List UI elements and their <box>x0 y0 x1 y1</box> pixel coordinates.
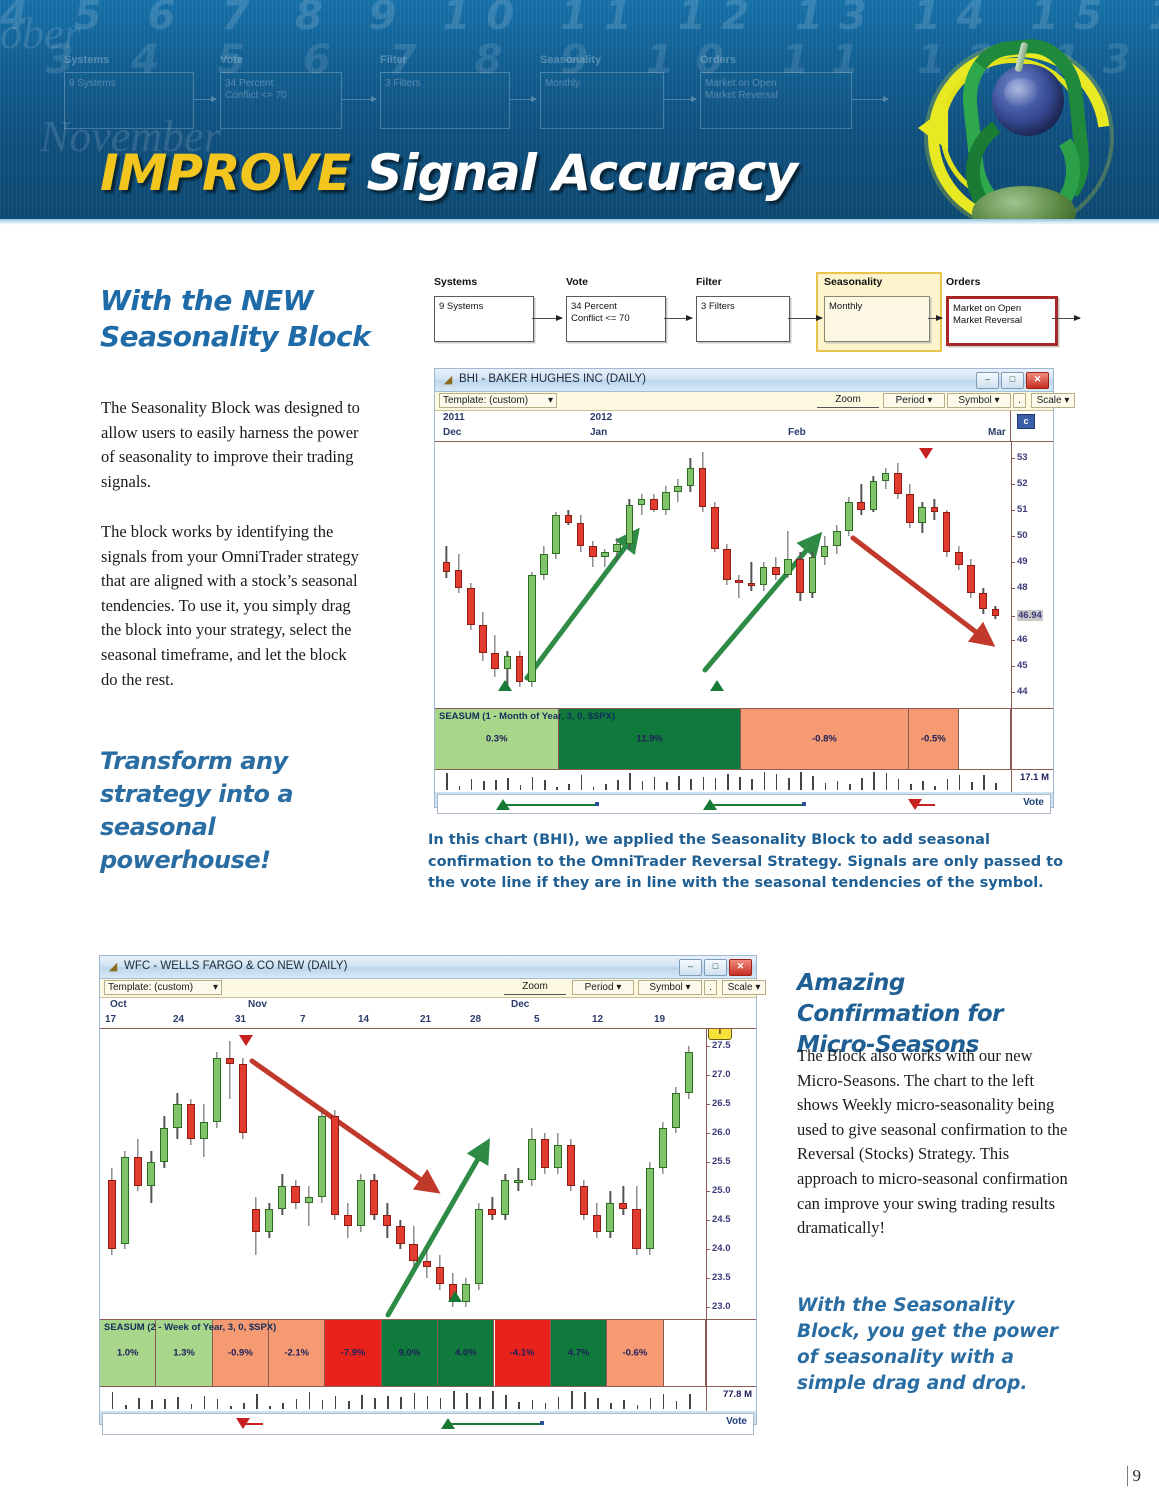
candle-wick <box>739 575 740 598</box>
volume-bar <box>269 1406 271 1409</box>
candle-body <box>409 1244 417 1261</box>
candle-body <box>443 562 451 572</box>
candle-body <box>554 1145 562 1168</box>
candle-body <box>540 554 548 575</box>
candlestick <box>423 1249 431 1278</box>
flow-label-systems: Systems <box>434 276 477 288</box>
candle-body <box>173 1104 181 1127</box>
candle-wick <box>308 1186 309 1227</box>
candle-body <box>213 1058 221 1122</box>
flow-node-systems[interactable]: 9 Systems <box>434 296 534 342</box>
candlestick <box>187 1099 195 1145</box>
volume-bar <box>623 1400 625 1409</box>
vote-end-dot <box>802 802 806 806</box>
bhi-volume-panel: 17.1 M <box>435 769 1053 792</box>
volume-bar <box>374 1398 376 1409</box>
candlestick <box>121 1151 129 1250</box>
maximize-button[interactable]: □ <box>1001 372 1024 389</box>
candle-body <box>821 546 829 556</box>
volume-bar <box>453 1391 455 1409</box>
candle-body <box>906 494 914 523</box>
volume-bar <box>886 773 888 790</box>
candle-body <box>552 515 560 554</box>
ghost-flow-label-systems: Systems <box>64 54 109 66</box>
candle-body <box>589 546 597 556</box>
wfc-volume-value: 77.8 M <box>723 1389 752 1400</box>
volume-bar <box>983 775 985 790</box>
candle-body <box>187 1104 195 1139</box>
candlestick <box>200 1104 208 1156</box>
page-headline: IMPROVE Signal Accuracy <box>100 144 797 202</box>
scale-dropdown[interactable]: Scale ▾ <box>1031 393 1075 408</box>
candlestick <box>870 476 878 513</box>
volume-bar <box>479 1397 481 1409</box>
page-number: 9 <box>1127 1466 1142 1486</box>
wfc-price-plot[interactable]: T 27.527.026.526.025.525.024.524.023.523… <box>100 1029 756 1319</box>
candlestick <box>252 1197 260 1255</box>
bhi-price-scale[interactable]: 53525150494846.94464544 <box>1011 442 1053 708</box>
candle-body <box>479 625 487 654</box>
volume-bar <box>505 1395 507 1409</box>
candlestick <box>462 1278 470 1307</box>
candlestick <box>370 1174 378 1220</box>
candlestick <box>821 536 829 565</box>
candle-body <box>931 507 939 512</box>
scale-dropdown-label: Scale <box>1037 395 1062 406</box>
price-tick: 52 <box>1017 478 1028 489</box>
price-tick: 24.0 <box>712 1243 731 1254</box>
seasonality-band[interactable]: -7.9% <box>325 1320 381 1386</box>
candlestick <box>992 606 1000 619</box>
volume-bar <box>138 1398 140 1409</box>
flow-node-systems-text: 9 Systems <box>439 301 531 313</box>
candle-body <box>857 502 865 510</box>
candle-body <box>305 1197 313 1203</box>
volume-bar <box>788 778 790 790</box>
candle-body <box>723 549 731 580</box>
wfc-title-bar[interactable]: ◢ WFC - WELLS FARGO & CO NEW (DAILY) – □… <box>100 956 756 979</box>
bhi-chart-window[interactable]: ◢ BHI - BAKER HUGHES INC (DAILY) – □ ✕ T… <box>434 368 1054 808</box>
wfc-day-28: 28 <box>470 1014 481 1025</box>
candle-body <box>772 567 780 575</box>
candlestick <box>967 559 975 598</box>
left-column-paragraph-2: The block works by identifying the signa… <box>101 520 363 692</box>
banner-bottom-rule <box>0 219 1159 225</box>
candlestick <box>541 1133 549 1174</box>
volume-bar <box>910 784 912 790</box>
seasonality-band[interactable]: -2.1% <box>269 1320 325 1386</box>
price-tick: 50 <box>1017 530 1028 541</box>
wfc-day-5: 5 <box>534 1014 540 1025</box>
seasonality-axis-line <box>1011 709 1012 769</box>
bhi-window-title: BHI - BAKER HUGHES INC (DAILY) <box>459 373 646 385</box>
candlestick <box>475 1203 483 1290</box>
bhi-date-axis: 2011 2012 Dec Jan Feb Mar c <box>435 411 1053 442</box>
minimize-button[interactable]: – <box>679 959 702 976</box>
candle-body <box>318 1116 326 1197</box>
candle-body <box>699 468 707 507</box>
volume-bar <box>995 783 997 790</box>
wfc-price-scale[interactable]: T 27.527.026.526.025.525.024.524.023.523… <box>706 1029 756 1319</box>
bhi-seasum-label: SEASUM (1 - Month of Year, 3, 0, $SPX) <box>439 711 615 722</box>
candlestick <box>383 1203 391 1238</box>
flow-node-vote[interactable]: 34 Percent Conflict <= 70 <box>566 296 666 342</box>
seasonality-band[interactable]: -0.5% <box>909 709 959 769</box>
flow-label-vote: Vote <box>566 276 588 288</box>
left-column-heading: With the NEW Seasonality Block <box>100 283 385 355</box>
flow-label-orders: Orders <box>946 276 980 288</box>
volume-bar <box>690 779 692 790</box>
volume-bar <box>459 786 461 790</box>
symbol-dropdown[interactable]: Symbol ▾ <box>947 393 1011 408</box>
seasonality-band[interactable]: 9.0% <box>382 1320 438 1386</box>
ghost-flow-text-filter: 3 Filters <box>385 78 421 90</box>
wfc-month-dec: Dec <box>511 999 529 1010</box>
volume-bar <box>427 1396 429 1409</box>
candlestick <box>443 546 451 577</box>
vote-segment <box>917 804 935 806</box>
wfc-month-oct: Oct <box>110 999 127 1010</box>
period-dropdown[interactable]: Period ▾ <box>883 393 945 408</box>
bhi-scale-badge[interactable]: c <box>1017 414 1035 429</box>
candlestick <box>735 575 743 598</box>
symbol-dropdown[interactable]: Symbol ▾ <box>638 980 702 995</box>
vote-segment <box>712 804 804 806</box>
candle-body <box>735 580 743 583</box>
wfc-chart-window[interactable]: ◢ WFC - WELLS FARGO & CO NEW (DAILY) – □… <box>99 955 757 1425</box>
bhi-vote-line[interactable]: Vote <box>437 794 1051 814</box>
flow-node-seasonality[interactable]: Monthly <box>824 296 930 342</box>
volume-bar <box>177 1397 179 1409</box>
candlestick <box>699 452 707 512</box>
bhi-toolbar[interactable]: Template: (custom) ▾ Zoom Period ▾ Symbo… <box>435 392 1053 411</box>
volume-bar <box>556 787 558 790</box>
seasonality-band[interactable]: 4.7% <box>551 1320 607 1386</box>
candlestick <box>305 1186 313 1227</box>
seasonality-band-value: 4.7% <box>551 1348 606 1359</box>
volume-bar <box>873 772 875 790</box>
price-tick: 24.5 <box>712 1214 731 1225</box>
seasonality-band[interactable]: 4.0% <box>438 1320 494 1386</box>
price-tick: 45 <box>1017 660 1028 671</box>
candlestick <box>147 1151 155 1203</box>
candlestick <box>516 651 524 688</box>
candlestick <box>552 512 560 559</box>
wfc-toolbar[interactable]: Template: (custom) ▾ Zoom Period ▾ Symbo… <box>100 979 756 998</box>
candle-body <box>514 1180 522 1183</box>
wfc-volume-panel: 77.8 M <box>100 1386 756 1411</box>
candle-body <box>331 1116 339 1215</box>
volume-bar <box>495 780 497 790</box>
candle-body <box>121 1157 129 1244</box>
volume-bar <box>617 780 619 790</box>
maximize-button[interactable]: □ <box>704 959 727 976</box>
candle-body <box>662 492 670 510</box>
close-button[interactable]: ✕ <box>729 959 752 976</box>
volume-bar <box>849 784 851 790</box>
dot-button[interactable]: . <box>704 980 717 995</box>
candlestick <box>528 572 536 687</box>
close-button[interactable]: ✕ <box>1026 372 1049 389</box>
candlestick <box>906 484 914 528</box>
volume-bar <box>466 1393 468 1409</box>
price-tick: 48 <box>1017 582 1028 593</box>
volume-bar <box>204 1396 206 1409</box>
candle-body <box>357 1180 365 1226</box>
volume-axis-line <box>1011 770 1012 792</box>
globe-s-curve-logo-icon <box>920 18 1100 225</box>
seasonality-band-value: -0.9% <box>213 1348 268 1359</box>
flow-node-filter[interactable]: 3 Filters <box>696 296 790 342</box>
bhi-year-2012: 2012 <box>590 412 612 423</box>
volume-bar <box>532 777 534 790</box>
volume-bar <box>898 779 900 790</box>
candlestick <box>632 1186 640 1256</box>
chart-window-icon: ◢ <box>441 373 455 387</box>
volume-bar <box>837 781 839 790</box>
template-dropdown-label: Template: (custom) <box>108 982 193 993</box>
volume-bar <box>800 772 802 790</box>
candle-body <box>565 515 573 523</box>
ghost-flow-connector-3 <box>510 99 536 100</box>
candle-body <box>711 507 719 549</box>
buy-signal-marker[interactable] <box>498 680 512 691</box>
flow-node-orders-text: Market on Open Market Reversal <box>953 303 1053 326</box>
flow-connector-3 <box>788 318 822 319</box>
candle-body <box>613 544 621 552</box>
price-tick: 53 <box>1017 452 1028 463</box>
candle-body <box>796 559 804 593</box>
bhi-month-jan: Jan <box>590 427 607 438</box>
wfc-seasonality-panel[interactable]: SEASUM (2 - Week of Year, 3, 0, $SPX) 1.… <box>100 1319 756 1386</box>
minimize-button[interactable]: – <box>976 372 999 389</box>
candlestick <box>580 1180 588 1221</box>
candlestick <box>601 549 609 567</box>
candlestick <box>650 494 658 512</box>
vote-segment <box>450 1423 542 1425</box>
candlestick <box>760 562 768 591</box>
candlestick <box>291 1180 299 1209</box>
seasonality-band-value: 1.3% <box>156 1348 211 1359</box>
wfc-day-31: 31 <box>235 1014 246 1025</box>
wfc-day-17: 17 <box>105 1014 116 1025</box>
volume-bar <box>764 772 766 790</box>
candle-wick <box>861 484 862 515</box>
volume-bar <box>676 1401 678 1409</box>
zoom-button[interactable]: Zoom <box>504 980 566 995</box>
template-dropdown[interactable]: Template: (custom) ▾ <box>439 393 557 408</box>
buy-signal-marker[interactable] <box>710 680 724 691</box>
left-column-paragraph-1: The Seasonality Block was designed to al… <box>101 396 363 494</box>
candlestick <box>278 1174 286 1215</box>
seasonality-band-value: -0.6% <box>607 1348 662 1359</box>
wfc-window-buttons[interactable]: – □ ✕ <box>679 959 752 976</box>
candlestick <box>593 1203 601 1238</box>
price-tick: 26.0 <box>712 1127 731 1138</box>
volume-bar <box>689 1394 691 1409</box>
candlestick <box>226 1041 234 1099</box>
candlestick <box>687 458 695 492</box>
bhi-year-2011: 2011 <box>443 412 465 423</box>
candle-body <box>646 1168 654 1249</box>
volume-axis-line <box>706 1387 707 1411</box>
banner-ghost-flow-diagram: Systems Vote Filter Seasonality Orders 9… <box>62 42 892 132</box>
volume-bar <box>112 1392 114 1409</box>
candlestick <box>931 499 939 520</box>
page-header-banner: 4 5 6 7 8 9 10 11 12 13 14 15 16 17 18 1… <box>0 0 1159 225</box>
candle-body <box>467 588 475 625</box>
candle-body <box>870 481 878 510</box>
volume-bar <box>164 1399 166 1409</box>
price-tick: 27.5 <box>712 1040 731 1051</box>
candle-body <box>632 1209 640 1250</box>
volume-bar <box>584 1392 586 1409</box>
candlestick <box>613 538 621 561</box>
candlestick <box>979 588 987 614</box>
wfc-scale-badge[interactable]: T <box>708 1029 732 1040</box>
flow-node-orders[interactable]: Market on Open Market Reversal <box>946 296 1058 346</box>
price-tick: 26.5 <box>712 1098 731 1109</box>
seasonality-band-value: 11.9% <box>559 734 739 745</box>
price-tick: 23.5 <box>712 1272 731 1283</box>
candle-body <box>160 1128 168 1163</box>
volume-bar <box>544 780 546 790</box>
volume-bar <box>322 1400 324 1410</box>
candlestick <box>565 510 573 526</box>
candle-body <box>659 1128 667 1169</box>
volume-bar <box>191 1404 193 1409</box>
candle-body <box>108 1180 116 1250</box>
volume-bar <box>727 774 729 790</box>
volume-bar <box>861 778 863 790</box>
candlestick <box>943 510 951 557</box>
candlestick <box>265 1203 273 1238</box>
candlestick <box>160 1116 168 1168</box>
seasonality-band-value: 4.0% <box>438 1348 493 1359</box>
bhi-month-feb: Feb <box>788 427 806 438</box>
candle-body <box>541 1139 549 1168</box>
volume-bar <box>518 1402 520 1409</box>
flow-connector-5 <box>1052 318 1080 319</box>
candlestick <box>894 463 902 500</box>
candle-body <box>894 473 902 494</box>
candle-body <box>809 557 817 594</box>
candle-body <box>650 499 658 509</box>
period-dropdown[interactable]: Period ▾ <box>572 980 634 995</box>
candlestick <box>455 554 463 593</box>
sell-signal-marker[interactable] <box>919 448 933 459</box>
candle-body <box>488 1209 496 1215</box>
candle-body <box>455 570 463 588</box>
wfc-day-19: 19 <box>654 1014 665 1025</box>
candle-body <box>501 1180 509 1215</box>
candlestick <box>318 1110 326 1203</box>
volume-bar <box>739 777 741 790</box>
seasonality-band-value: 1.0% <box>100 1348 155 1359</box>
candlestick <box>344 1203 352 1238</box>
seasonality-band-value: -0.5% <box>909 734 958 745</box>
sell-signal-marker[interactable] <box>239 1035 253 1046</box>
bhi-price-plot[interactable]: 53525150494846.94464544 <box>435 442 1053 708</box>
bhi-scale-badge-area: c <box>1010 411 1053 441</box>
wfc-date-axis: Oct Nov Dec 17 24 31 7 14 21 28 5 12 19 <box>100 998 756 1029</box>
bhi-seasonality-panel[interactable]: SEASUM (1 - Month of Year, 3, 0, $SPX) 0… <box>435 708 1053 769</box>
flow-label-filter: Filter <box>696 276 722 288</box>
scale-dropdown[interactable]: Scale ▾ <box>722 980 766 995</box>
ghost-flow-connector-2 <box>342 99 376 100</box>
volume-bar <box>256 1394 258 1409</box>
wfc-month-nov: Nov <box>248 999 267 1010</box>
candle-body <box>882 473 890 481</box>
ghost-flow-label-vote: Vote <box>220 54 243 66</box>
candle-body <box>383 1215 391 1227</box>
volume-bar <box>125 1405 127 1409</box>
candle-body <box>370 1180 378 1215</box>
candle-body <box>344 1215 352 1227</box>
wfc-vote-line[interactable]: Vote <box>102 1413 754 1435</box>
flow-connector-2 <box>664 318 692 319</box>
candlestick <box>662 486 670 515</box>
candlestick <box>589 541 597 567</box>
bhi-window-buttons[interactable]: – □ ✕ <box>976 372 1049 389</box>
dot-button[interactable]: . <box>1013 393 1026 408</box>
candlestick <box>882 468 890 489</box>
candle-body <box>833 531 841 547</box>
price-tick: 46 <box>1017 634 1028 645</box>
candlestick <box>396 1220 404 1249</box>
period-dropdown-label: Period <box>896 395 925 406</box>
candlestick <box>784 531 792 578</box>
seasonality-band-value: 0.3% <box>435 734 558 745</box>
seasonality-band[interactable]: -0.8% <box>741 709 909 769</box>
volume-bar <box>348 1401 350 1409</box>
template-dropdown-label: Template: (custom) <box>443 395 528 406</box>
candle-body <box>291 1186 299 1203</box>
candle-body <box>528 575 536 682</box>
candlestick <box>918 502 926 533</box>
template-dropdown[interactable]: Template: (custom) ▾ <box>104 980 222 995</box>
candle-wick <box>623 1186 624 1215</box>
buy-signal-marker[interactable] <box>448 1291 462 1302</box>
seasonality-band[interactable]: -4.1% <box>495 1320 551 1386</box>
volume-bar <box>593 787 595 790</box>
candlestick <box>501 1174 509 1220</box>
ghost-flow-connector-1 <box>194 99 216 100</box>
seasonality-band[interactable]: -0.6% <box>607 1320 663 1386</box>
wfc-day-12: 12 <box>592 1014 603 1025</box>
bhi-title-bar[interactable]: ◢ BHI - BAKER HUGHES INC (DAILY) – □ ✕ <box>435 369 1053 392</box>
candle-body <box>504 656 512 669</box>
volume-bar <box>642 781 644 791</box>
candle-body <box>265 1209 273 1232</box>
volume-bar <box>558 1397 560 1409</box>
candlestick <box>796 552 804 602</box>
candlestick <box>134 1139 142 1191</box>
volume-bar <box>507 778 509 790</box>
ghost-flow-text-seasonality: Monthly <box>545 78 580 90</box>
candlestick <box>674 479 682 502</box>
zoom-button[interactable]: Zoom <box>817 393 879 408</box>
candle-body <box>567 1145 575 1186</box>
volume-bar <box>812 776 814 790</box>
volume-bar <box>776 774 778 790</box>
headline-highlight: IMPROVE <box>100 144 350 202</box>
volume-bar <box>471 779 473 790</box>
volume-bar <box>825 783 827 790</box>
candlestick <box>619 1186 627 1215</box>
seasonality-band-value: -7.9% <box>325 1348 380 1359</box>
candlestick <box>173 1093 181 1139</box>
